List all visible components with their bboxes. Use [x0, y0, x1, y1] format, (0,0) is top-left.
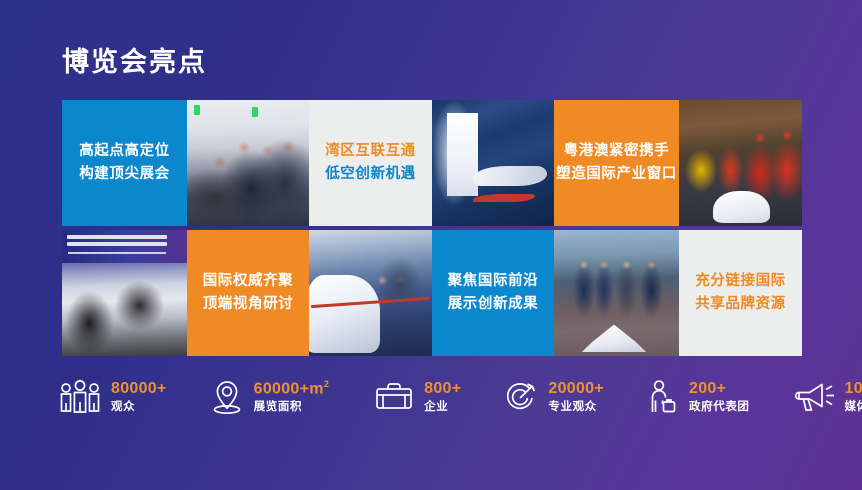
stat-label: 专业观众: [548, 401, 604, 415]
tile-line-2: 展示创新成果: [448, 293, 539, 316]
tile-authority[interactable]: 国际权威齐聚 顶端视角研讨: [187, 230, 309, 356]
briefcase-icon: [373, 380, 415, 414]
tile-photo-aircraft[interactable]: [432, 100, 554, 226]
stat-professional-visitors: 20000+ 专业观众: [501, 379, 604, 415]
delegate-icon: [646, 378, 680, 416]
location-icon: [209, 378, 245, 416]
stat-text: 100+ 媒体机构: [845, 380, 862, 414]
tile-greater-bay[interactable]: 粤港澳紧密携手 塑造国际产业窗口: [554, 100, 679, 226]
stat-value: 100+: [845, 380, 862, 399]
stat-audience: 80000+ 观众: [58, 379, 167, 415]
photo-image: [62, 230, 187, 356]
stat-media-organisations: 100+ 媒体机构: [794, 379, 862, 415]
tile-line-1: 高起点高定位: [79, 143, 170, 159]
tile-line-1: 湾区互联互通: [325, 143, 416, 159]
tile-line-2: 低空创新机遇: [325, 163, 416, 186]
target-icon: [501, 379, 539, 415]
stat-exhibition-area: 60000+m2 展览面积: [209, 378, 329, 416]
tile-text: 粤港澳紧密携手 塑造国际产业窗口: [556, 140, 677, 187]
people-icon: [58, 379, 102, 415]
tile-line-2: 顶端视角研讨: [203, 293, 294, 316]
tile-text: 湾区互联互通 低空创新机遇: [325, 140, 416, 187]
stat-text: 80000+ 观众: [111, 380, 167, 414]
tile-brand-resources[interactable]: 充分链接国际 共享品牌资源: [679, 230, 802, 356]
stat-label: 媒体机构: [845, 401, 862, 415]
tile-line-2: 构建顶尖展会: [79, 163, 170, 186]
stat-label: 观众: [111, 401, 167, 415]
tile-photo-forum[interactable]: [62, 230, 187, 356]
tile-text: 聚焦国际前沿 展示创新成果: [448, 270, 539, 317]
tile-line-2: 共享品牌资源: [695, 293, 786, 316]
stats-row: 80000+ 观众 60000+m2 展览面积 800+: [58, 378, 818, 416]
stat-text: 800+ 企业: [424, 380, 461, 414]
stat-government-delegations: 200+ 政府代表团: [646, 378, 750, 416]
tile-photo-visit[interactable]: [554, 230, 679, 356]
tile-high-standard[interactable]: 高起点高定位 构建顶尖展会: [62, 100, 187, 226]
tile-line-1: 粤港澳紧密携手: [564, 143, 670, 159]
stat-text: 20000+ 专业观众: [548, 380, 604, 414]
tile-photo-rescue[interactable]: [679, 100, 802, 226]
photo-image: [309, 230, 432, 356]
megaphone-icon: [794, 379, 836, 415]
stat-value: 20000+: [548, 380, 604, 399]
stat-text: 200+ 政府代表团: [689, 380, 750, 414]
tile-text: 充分链接国际 共享品牌资源: [695, 270, 786, 317]
highlight-tile-grid: 高起点高定位 构建顶尖展会 湾区互联互通 低空创新机遇 粤港澳紧密携手 塑造国际…: [62, 100, 802, 356]
tile-line-1: 聚焦国际前沿: [448, 273, 539, 289]
tile-photo-vehicle[interactable]: [309, 230, 432, 356]
tile-line-1: 国际权威齐聚: [203, 273, 294, 289]
photo-image: [679, 100, 802, 226]
tile-text: 高起点高定位 构建顶尖展会: [79, 140, 170, 187]
stat-value: 80000+: [111, 380, 167, 399]
photo-image: [187, 100, 309, 226]
stat-text: 60000+m2 展览面积: [254, 379, 329, 415]
photo-image: [554, 230, 679, 356]
stat-label: 展览面积: [254, 401, 329, 415]
stat-value: 60000+m2: [254, 379, 329, 399]
tile-line-1: 充分链接国际: [695, 273, 786, 289]
page-title: 博览会亮点: [62, 49, 207, 76]
stat-companies: 800+ 企业: [373, 380, 461, 414]
photo-image: [432, 100, 554, 226]
tile-text: 国际权威齐聚 顶端视角研讨: [203, 270, 294, 317]
stat-value: 800+: [424, 380, 461, 399]
tile-line-2: 塑造国际产业窗口: [556, 163, 677, 186]
tile-photo-guests[interactable]: [187, 100, 309, 226]
stat-value: 200+: [689, 380, 750, 399]
stat-label: 政府代表团: [689, 401, 750, 415]
stat-label: 企业: [424, 401, 461, 415]
tile-frontier[interactable]: 聚焦国际前沿 展示创新成果: [432, 230, 554, 356]
tile-bay-area[interactable]: 湾区互联互通 低空创新机遇: [309, 100, 432, 226]
stat-unit-sup: 2: [324, 379, 329, 389]
